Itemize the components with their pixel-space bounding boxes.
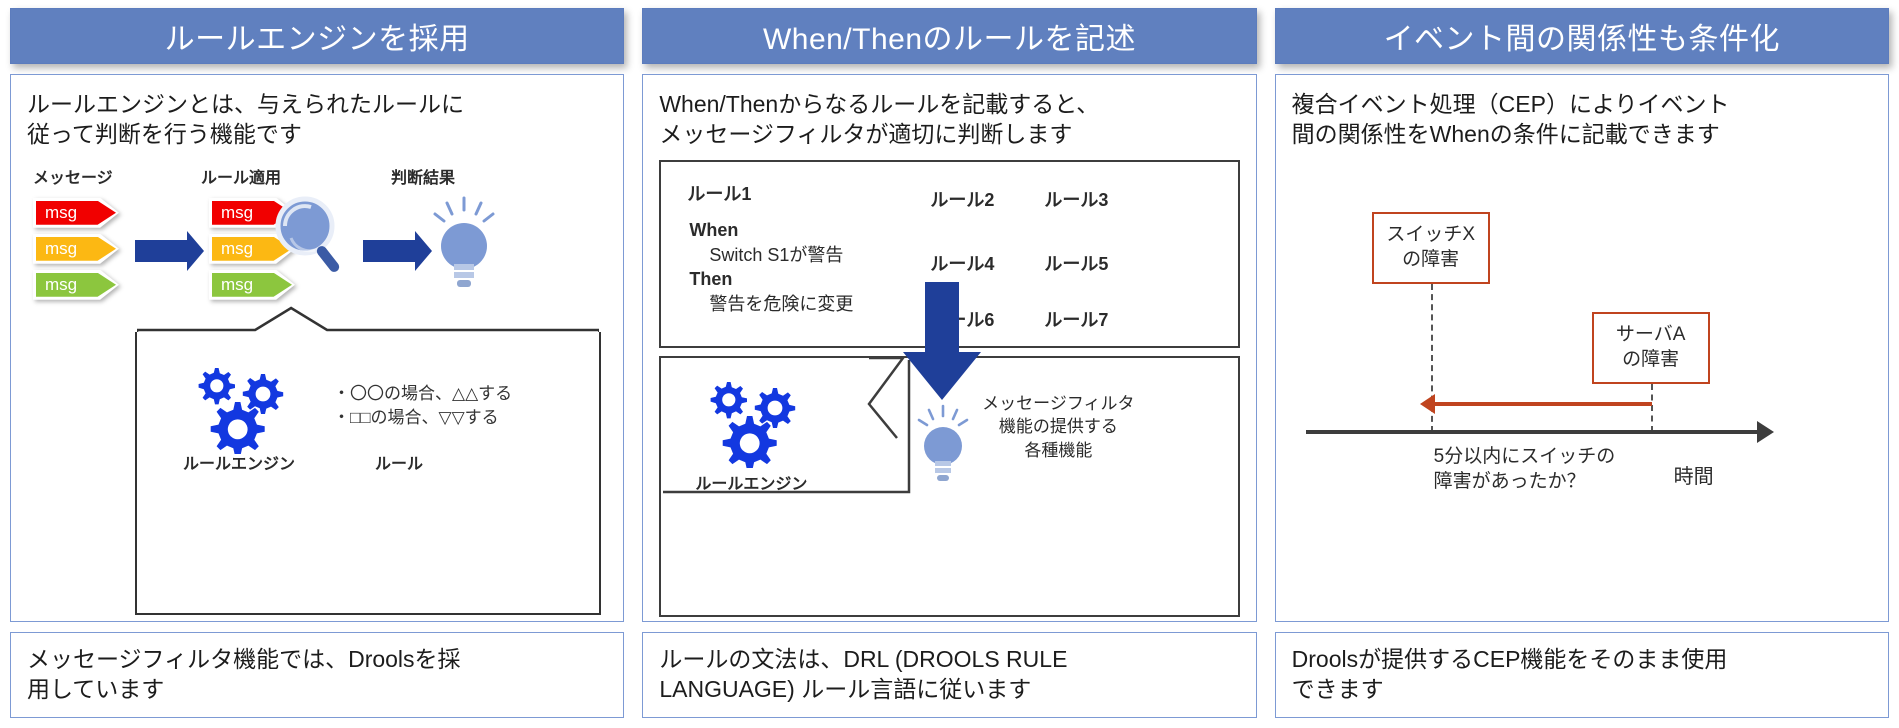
panel-2-footer: ルールの文法は、DRL (DROOLS RULE LANGUAGE) ルール言語…: [642, 632, 1256, 718]
panel-rule-engine: ルールエンジンを採用 ルールエンジンとは、与えられたルールに 従って判断を行う機…: [10, 8, 624, 718]
rule-label: ルール: [375, 450, 423, 474]
panel-2-banner: When/Thenのルールを記述: [642, 8, 1256, 64]
bracket-notch: [137, 306, 599, 332]
panel-2-figure: ルール1 When Switch S1が警告 Then 警告を危険に変更 ルール…: [643, 154, 1255, 621]
rule-4-title: ルール4: [930, 250, 994, 276]
panel-1-banner: ルールエンジンを採用: [10, 8, 624, 64]
lightbulb-icon: [429, 196, 499, 296]
slide-deck: ルールエンジンを採用 ルールエンジンとは、与えられたルールに 従って判断を行う機…: [0, 0, 1899, 728]
rule-3-card: ルール3: [1035, 176, 1131, 222]
rule-2-card: ルール2: [921, 176, 1017, 222]
panel-1-footer: メッセージフィルタ機能では、Droolsを採 用しています: [10, 632, 624, 718]
rule-7-card: ルール7: [1035, 296, 1131, 342]
message-chip-orange: msg: [33, 234, 119, 264]
rule-1-title: ルール1: [687, 180, 751, 206]
message-chip-green: msg: [33, 270, 119, 300]
time-axis: [1306, 430, 1758, 434]
rule-7-title: ルール7: [1044, 306, 1108, 332]
interval-arrow: [1434, 402, 1652, 406]
down-arrow-icon: [901, 282, 983, 402]
lightbulb-icon: [915, 404, 971, 486]
panel-1-figure: メッセージ ルール適用 判断結果 msg msg msg: [11, 154, 623, 621]
flow-arrow-1: [135, 240, 187, 262]
rule-1-card: ルール1 When Switch S1が警告 Then 警告を危険に変更: [677, 174, 905, 336]
figure-heading-rule-apply: ルール適用: [201, 164, 281, 188]
then-body: 警告を危険に変更: [689, 292, 853, 317]
rule-engine-label: ルールエンジン: [695, 470, 807, 494]
rule-examples-text: ・〇〇の場合、△△する ・□□の場合、▽▽する: [333, 382, 512, 431]
rule-5-card: ルール5: [1035, 240, 1131, 286]
panel-cep: イベント間の関係性も条件化 複合イベント処理（CEP）によりイベント 間の関係性…: [1275, 8, 1889, 718]
magnifier-icon: [269, 192, 355, 278]
panel-when-then: When/Thenのルールを記述 When/Thenからなるルールを記載すると、…: [642, 8, 1256, 718]
callout-text: メッセージフィルタ 機能の提供する 各種機能: [973, 392, 1143, 462]
panel-2-lead-text: When/Thenからなるルールを記載すると、 メッセージフィルタが適切に判断し…: [643, 75, 1255, 154]
figure-heading-result: 判断結果: [391, 164, 455, 188]
flow-arrow-2: [363, 240, 415, 262]
message-chip-red: msg: [33, 198, 119, 228]
gears-icon: [193, 362, 289, 454]
rule-2-title: ルール2: [930, 186, 994, 212]
rule-4-card: ルール4: [921, 240, 1017, 286]
interval-caption: 5分以内にスイッチの 障害があったか？: [1434, 444, 1616, 494]
when-keyword: When: [689, 218, 853, 243]
gears-icon: [705, 376, 801, 468]
panel-1-lead-text: ルールエンジンとは、与えられたルールに 従って判断を行う機能です: [11, 75, 623, 154]
rule-engine-label: ルールエンジン: [183, 450, 295, 474]
then-keyword: Then: [689, 267, 853, 292]
event-box-server-a: サーバA の障害: [1592, 312, 1710, 384]
rule-5-title: ルール5: [1044, 250, 1108, 276]
rule-3-title: ルール3: [1044, 186, 1108, 212]
rule-1-body: When Switch S1が警告 Then 警告を危険に変更: [689, 218, 853, 317]
figure-heading-message: メッセージ: [33, 164, 113, 188]
panel-3-figure: スイッチX の障害 サーバA の障害 5分以内にスイッチの 障害があったか？ 時…: [1276, 154, 1888, 621]
time-axis-label: 時間: [1674, 460, 1714, 489]
panel-3-banner: イベント間の関係性も条件化: [1275, 8, 1889, 64]
when-body: Switch S1が警告: [689, 243, 853, 268]
panel-2-card: When/Thenからなるルールを記載すると、 メッセージフィルタが適切に判断し…: [642, 74, 1256, 622]
panel-3-footer: Droolsが提供するCEP機能をそのまま使用 できます: [1275, 632, 1889, 718]
panel-1-card: ルールエンジンとは、与えられたルールに 従って判断を行う機能です メッセージ ル…: [10, 74, 624, 622]
event-box-switch-x: スイッチX の障害: [1372, 212, 1490, 284]
event-dash-server-a: [1651, 384, 1653, 432]
panel-3-lead-text: 複合イベント処理（CEP）によりイベント 間の関係性をWhenの条件に記載できま…: [1276, 75, 1888, 154]
panel-3-card: 複合イベント処理（CEP）によりイベント 間の関係性をWhenの条件に記載できま…: [1275, 74, 1889, 622]
